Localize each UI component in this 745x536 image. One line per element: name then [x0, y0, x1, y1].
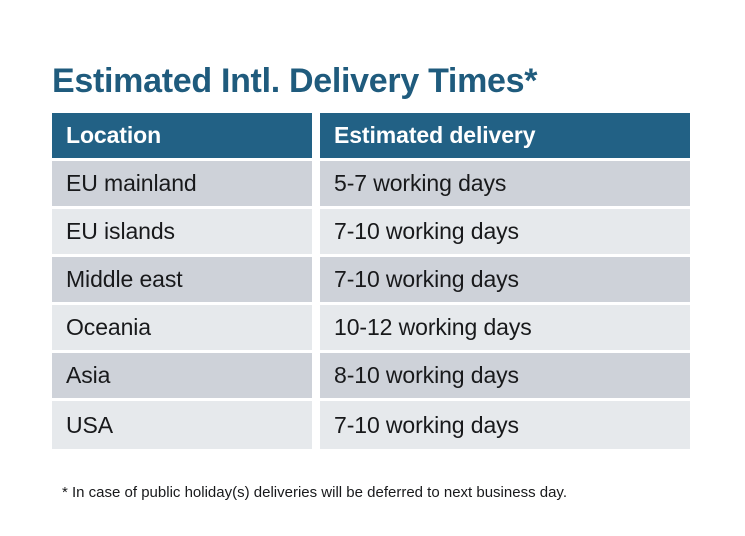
cell-estimated-delivery: 7-10 working days — [320, 401, 690, 449]
table-row: Middle east 7-10 working days — [52, 257, 690, 305]
footnote: * In case of public holiday(s) deliverie… — [62, 482, 567, 504]
cell-estimated-delivery: 5-7 working days — [320, 161, 690, 209]
table-row: EU mainland 5-7 working days — [52, 161, 690, 209]
cell-estimated-delivery: 7-10 working days — [320, 209, 690, 257]
cell-location: EU mainland — [52, 161, 320, 209]
cell-estimated-delivery: 8-10 working days — [320, 353, 690, 401]
table-head: Location Estimated delivery — [52, 113, 690, 161]
cell-location: Middle east — [52, 257, 320, 305]
table-row: Oceania 10-12 working days — [52, 305, 690, 353]
cell-location: Asia — [52, 353, 320, 401]
column-header-estimated-delivery: Estimated delivery — [320, 113, 690, 161]
cell-location: Oceania — [52, 305, 320, 353]
delivery-times-table: Location Estimated delivery EU mainland … — [52, 113, 690, 449]
cell-location: EU islands — [52, 209, 320, 257]
table-row: USA 7-10 working days — [52, 401, 690, 449]
table-row: Asia 8-10 working days — [52, 353, 690, 401]
cell-location: USA — [52, 401, 320, 449]
delivery-times-page: Estimated Intl. Delivery Times* Location… — [0, 0, 745, 536]
cell-estimated-delivery: 10-12 working days — [320, 305, 690, 353]
table-body: EU mainland 5-7 working days EU islands … — [52, 161, 690, 449]
table-row: EU islands 7-10 working days — [52, 209, 690, 257]
cell-estimated-delivery: 7-10 working days — [320, 257, 690, 305]
table-header-row: Location Estimated delivery — [52, 113, 690, 161]
column-header-location: Location — [52, 113, 320, 161]
page-title: Estimated Intl. Delivery Times* — [52, 59, 537, 103]
